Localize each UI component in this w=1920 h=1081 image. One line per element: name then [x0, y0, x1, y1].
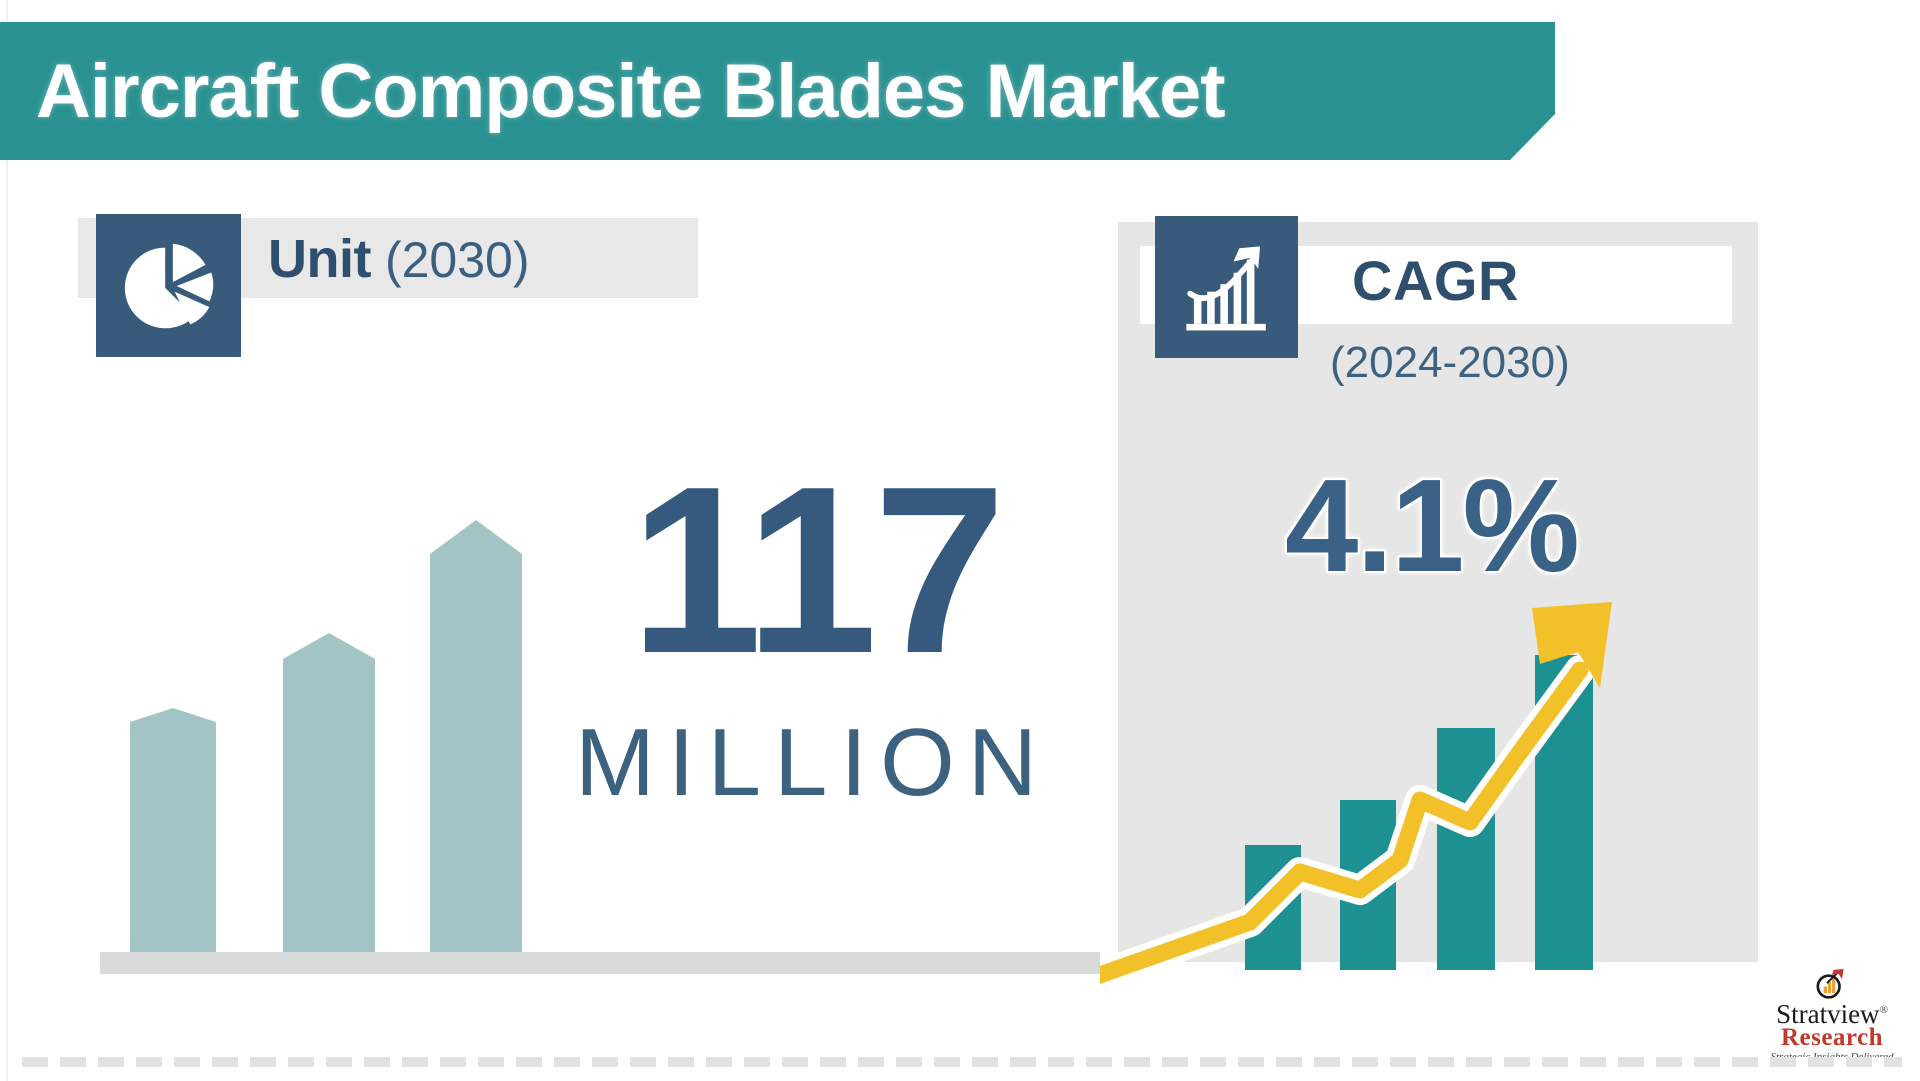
logo-magnifier-icon: [1812, 968, 1852, 1000]
unit-bar-2: [283, 633, 375, 952]
unit-value: 117: [630, 452, 1002, 690]
unit-scale-word: MILLION: [575, 715, 1050, 811]
logo-name: Stratview®: [1776, 1001, 1888, 1028]
cagr-bar-1: [1245, 845, 1301, 970]
stratview-logo: Stratview® Research Strategic Insights D…: [1752, 968, 1912, 1063]
bottom-dashed-rule: [22, 1057, 1902, 1067]
unit-panel: Unit (2030) 117 MILLION: [0, 190, 1110, 1000]
cagr-value: 4.1%: [1285, 460, 1578, 592]
unit-bar-1: [130, 708, 216, 952]
cagr-years: (2024-2030): [1330, 338, 1570, 388]
cagr-bar-2: [1340, 800, 1396, 970]
cagr-bar-3: [1437, 728, 1495, 970]
title-banner: Aircraft Composite Blades Market: [0, 22, 1555, 160]
logo-name-text: Stratview: [1776, 999, 1879, 1029]
cagr-label: CAGR: [1352, 248, 1519, 313]
infographic-page: Aircraft Composite Blades Market Unit (2…: [0, 0, 1920, 1081]
unit-bar-3: [430, 520, 522, 952]
unit-chart-baseline: [100, 952, 1100, 974]
cagr-bar-4: [1535, 655, 1593, 970]
page-title: Aircraft Composite Blades Market: [36, 48, 1225, 135]
logo-registered-mark: ®: [1880, 1004, 1888, 1016]
growth-chart-icon: [1155, 216, 1298, 358]
